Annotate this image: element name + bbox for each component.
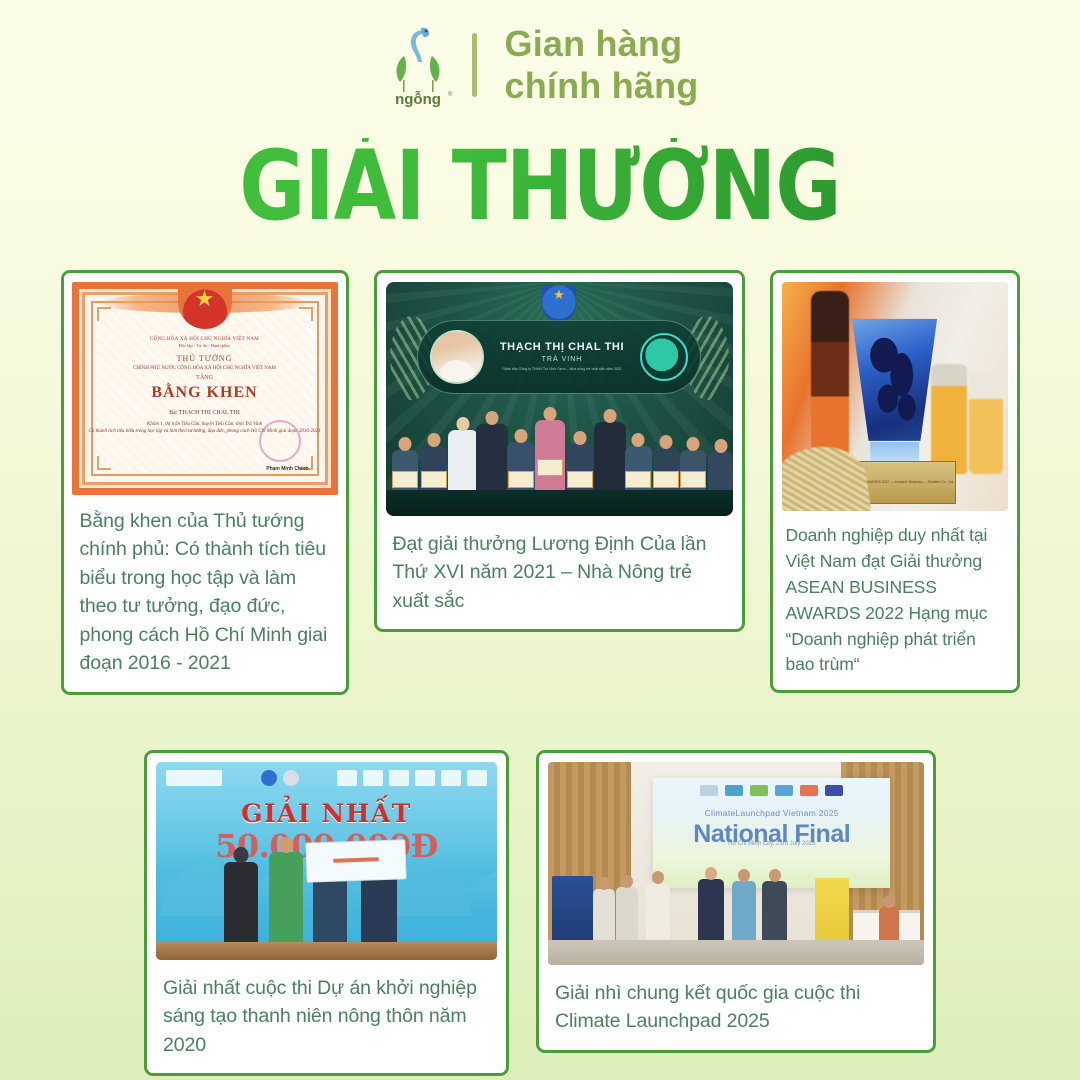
bang-khen-certificate-graphic: CỘNG HÒA XÃ HỘI CHỦ NGHĨA VIỆT NAM Độc l… [72, 282, 338, 495]
slide-sponsor-logos [672, 785, 871, 796]
cert-line-4: CHÍNH PHỦ NƯỚC CỘNG HÒA XÃ HỘI CHỦ NGHĨA… [79, 366, 331, 371]
award-emblem-icon [640, 333, 688, 381]
cert-signature: Phạm Minh Chính [266, 466, 308, 472]
yellow-standee [815, 878, 849, 945]
honoree-avatar [430, 330, 484, 384]
blue-standee [552, 876, 593, 945]
brand-line-1: Gian hàng [505, 23, 699, 65]
certificate-image: CỘNG HÒA XÃ HỘI CHỦ NGHĨA VIỆT NAM Độc l… [64, 273, 346, 495]
award-card-giai-nhat[interactable]: GIẢI NHẤT 50.000.000Đ Giải nhất cuộc thi… [144, 750, 509, 1076]
awards-row-2: GIẢI NHẤT 50.000.000Đ Giải nhất cuộc thi… [0, 750, 1080, 1076]
slide-line-3: Ho Chi Minh City, 23rd July 2025 [653, 841, 890, 847]
asean-trophy-graphic: ASEAN BUSINESS AWARDS 2022 — Inclusive B… [782, 282, 1008, 511]
awards-row-1: CỘNG HÒA XÃ HỘI CHỦ NGHĨA VIỆT NAM Độc l… [0, 270, 1080, 695]
award-card-climate-launchpad[interactable]: ClimateLaunchpad Vietnam 2025 National F… [536, 750, 936, 1053]
honoree-province: TRÀ VINH [484, 356, 641, 363]
prize-label: GIẢI NHẤT [156, 799, 497, 828]
cert-line-7: Bà: THẠCH THỊ CHAL THI [79, 410, 331, 416]
cert-line-5: TẶNG [79, 375, 331, 381]
cert-line-2: Độc lập - Tự do - Hạnh phúc [79, 343, 331, 348]
brand-header: ngỗng ® Gian hàng chính hãng [0, 0, 1080, 110]
youth-union-emblem-icon [542, 285, 576, 323]
svg-text:®: ® [448, 91, 453, 98]
slide-line-1: ClimateLaunchpad Vietnam 2025 [653, 808, 890, 818]
brand-line-2: chính hãng [505, 65, 699, 107]
award-card-luong-dinh-cua[interactable]: THẠCH THỊ CHAL THI TRÀ VINH Giám đốc Côn… [374, 270, 745, 632]
brand-text: Gian hàng chính hãng [505, 23, 699, 107]
trophy-image: ASEAN BUSINESS AWARDS 2022 — Inclusive B… [773, 273, 1017, 511]
svg-text:ngỗng: ngỗng [395, 91, 441, 108]
award-caption: Giải nhì chung kết quốc gia cuộc thi Cli… [539, 965, 933, 1050]
sponsor-logos [166, 770, 487, 786]
ngong-logo: ngỗng ® [382, 22, 454, 108]
honoree-subtitle: Giám đốc Công ty TNHH Trà Vinh Farm – Nh… [484, 367, 641, 372]
cert-line-6: BẰNG KHEN [79, 384, 331, 402]
cert-line-3: THỦ TƯỚNG [79, 354, 331, 363]
honoree-name: THẠCH THỊ CHAL THI [484, 341, 641, 353]
award-caption: Doanh nghiệp duy nhất tại Việt Nam đạt G… [773, 511, 1017, 690]
award-ceremony-graphic: THẠCH THỊ CHAL THI TRÀ VINH Giám đốc Côn… [386, 282, 733, 516]
startup-contest-stage-graphic: GIẢI NHẤT 50.000.000Đ [156, 762, 497, 960]
wheat-decor [782, 441, 873, 511]
stage-banner: THẠCH THỊ CHAL THI TRÀ VINH Giám đốc Côn… [417, 320, 702, 394]
official-seal-icon [259, 420, 301, 462]
award-caption: Đạt giải thưởng Lương Định Của lần Thứ X… [377, 516, 742, 629]
conference-room-graphic: ClimateLaunchpad Vietnam 2025 National F… [548, 762, 924, 965]
brand-divider [472, 33, 477, 97]
award-card-certificate[interactable]: CỘNG HÒA XÃ HỘI CHỦ NGHĨA VIỆT NAM Độc l… [61, 270, 349, 695]
page-title: GIẢI THƯỞNG [86, 138, 993, 234]
trophy-cup [848, 319, 941, 452]
cert-line-1: CỘNG HÒA XÃ HỘI CHỦ NGHĨA VIỆT NAM [79, 337, 331, 342]
climate-launchpad-image: ClimateLaunchpad Vietnam 2025 National F… [539, 753, 933, 965]
giant-check [305, 839, 406, 882]
ceremony-image: THẠCH THỊ CHAL THI TRÀ VINH Giám đốc Côn… [377, 273, 742, 516]
award-caption: Bằng khen của Thủ tướng chính phủ: Có th… [64, 495, 346, 692]
award-card-asean[interactable]: ASEAN BUSINESS AWARDS 2022 — Inclusive B… [770, 270, 1020, 693]
award-caption: Giải nhất cuộc thi Dự án khởi nghiệp sán… [147, 960, 506, 1073]
giai-nhat-image: GIẢI NHẤT 50.000.000Đ [147, 753, 506, 960]
